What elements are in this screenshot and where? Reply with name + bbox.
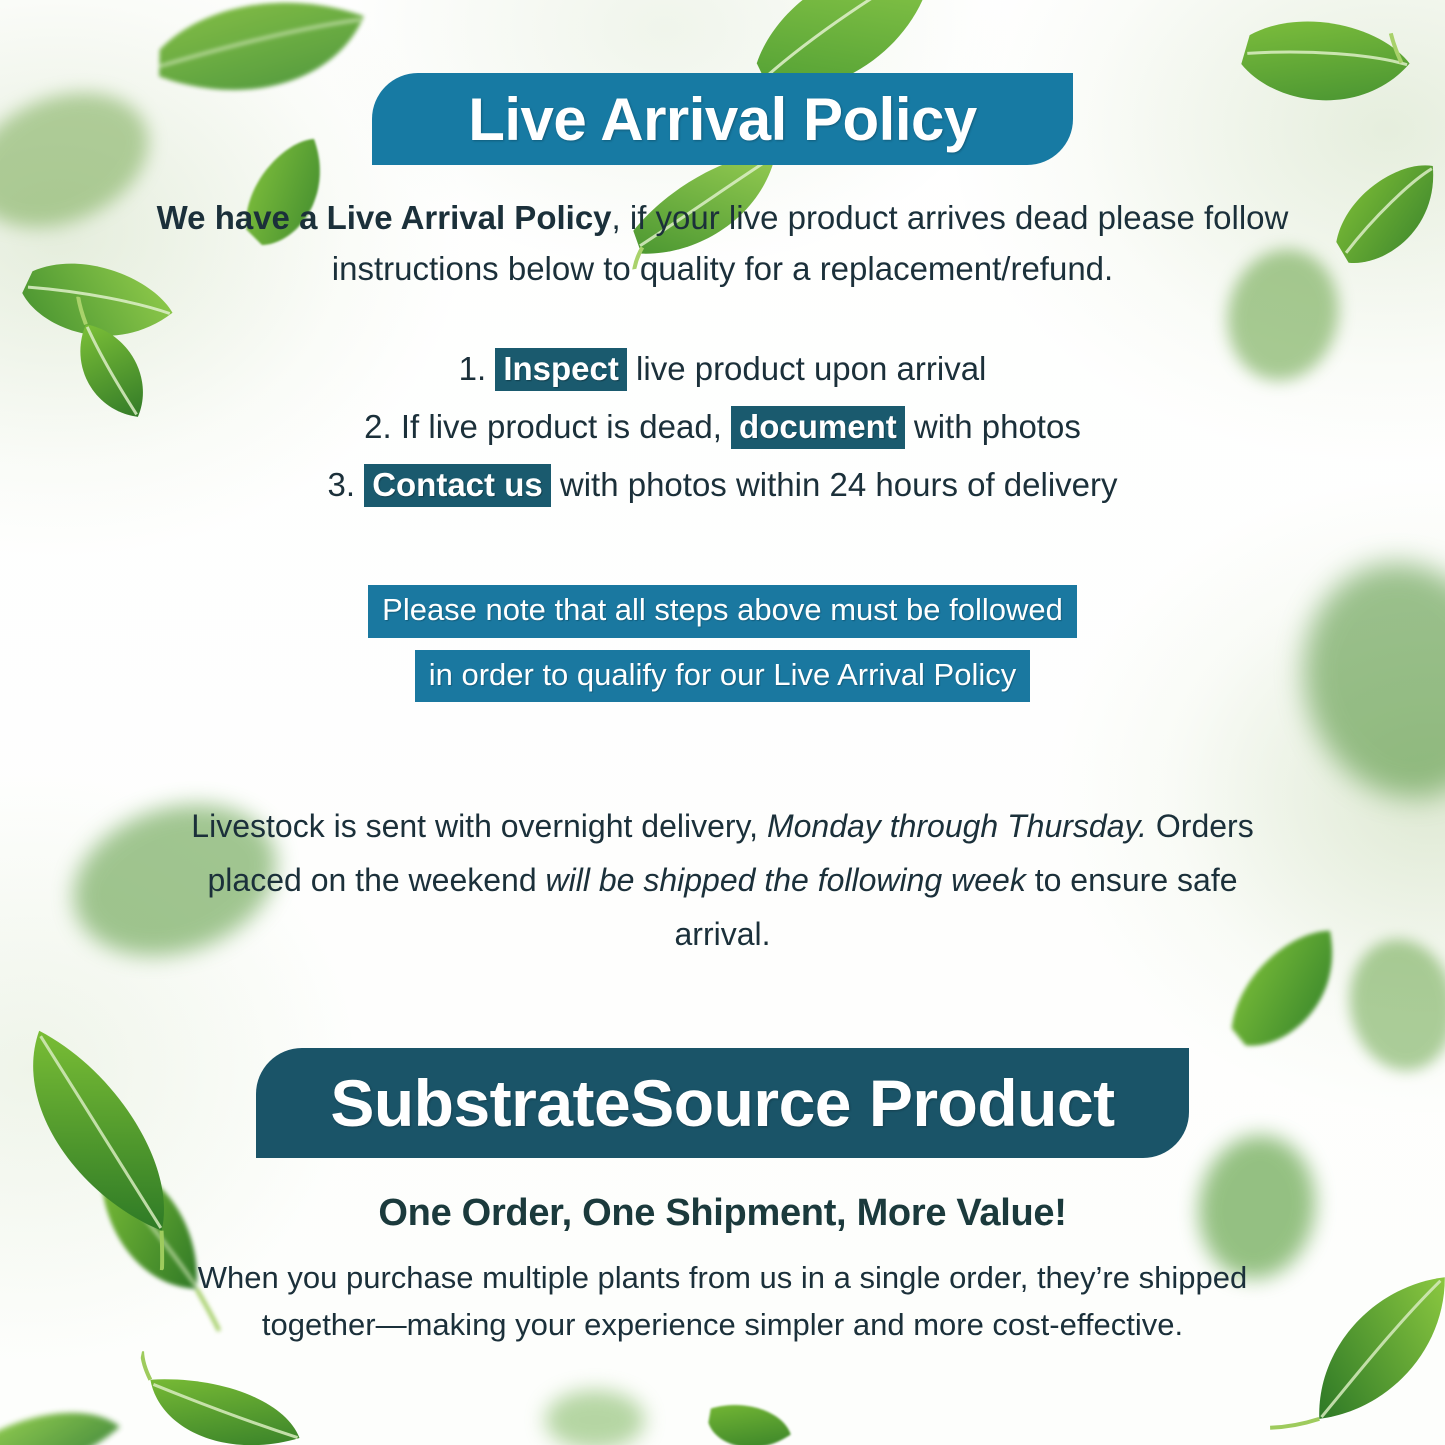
intro-bold-text: We have a Live Arrival Policy [157, 199, 612, 236]
shipping-italic-1: Monday through Thursday. [767, 808, 1147, 844]
leaf-icon [1340, 930, 1445, 1080]
intro-paragraph: We have a Live Arrival Policy, if your l… [150, 192, 1295, 295]
step-highlight-contact-us[interactable]: Contact us [364, 464, 551, 507]
leaf-icon [121, 1347, 319, 1445]
leaf-icon [141, 0, 379, 141]
product-subheading: One Order, One Shipment, More Value! [150, 1192, 1295, 1235]
step-number: 1. [459, 350, 487, 387]
leaf-icon [1311, 146, 1445, 288]
leaf-icon [1290, 550, 1445, 810]
step-number: 2. [364, 408, 392, 445]
note-line-1: Please note that all steps above must be… [368, 585, 1077, 638]
leaf-icon [540, 1385, 650, 1445]
step-after-text: live product upon arrival [636, 350, 986, 387]
policy-note-callout: Please note that all steps above must be… [150, 585, 1295, 714]
shipping-text-1: Livestock is sent with overnight deliver… [191, 808, 767, 844]
list-item: 3. Contact us with photos within 24 hour… [150, 466, 1295, 504]
infographic-page: Live Arrival Policy We have a Live Arriv… [0, 0, 1445, 1445]
leaf-icon [692, 1382, 804, 1445]
step-highlight-inspect: Inspect [495, 348, 627, 391]
policy-steps-list: 1. Inspect live product upon arrival 2. … [150, 350, 1295, 524]
list-item: 2. If live product is dead, document wit… [150, 408, 1295, 446]
note-line-2: in order to qualify for our Live Arrival… [415, 650, 1031, 703]
step-highlight-document: document [731, 406, 905, 449]
step-after-text: with photos [914, 408, 1081, 445]
shipping-schedule-paragraph: Livestock is sent with overnight deliver… [180, 800, 1265, 961]
shipping-italic-2: will be shipped the following week [546, 862, 1026, 898]
product-body-paragraph: When you purchase multiple plants from u… [170, 1255, 1275, 1348]
list-item: 1. Inspect live product upon arrival [150, 350, 1295, 388]
step-after-text: with photos within 24 hours of delivery [560, 466, 1118, 503]
live-arrival-policy-title: Live Arrival Policy [468, 85, 977, 154]
substratesource-product-title: SubstrateSource Product [330, 1065, 1114, 1141]
leaf-icon [0, 80, 160, 240]
step-before-text: If live product is dead, [401, 408, 722, 445]
live-arrival-policy-banner: Live Arrival Policy [372, 73, 1073, 165]
leaf-icon [0, 1383, 132, 1445]
leaf-icon [1221, 0, 1425, 151]
leaf-icon [1266, 1246, 1445, 1445]
step-number: 3. [327, 466, 355, 503]
substratesource-product-banner: SubstrateSource Product [256, 1048, 1189, 1158]
